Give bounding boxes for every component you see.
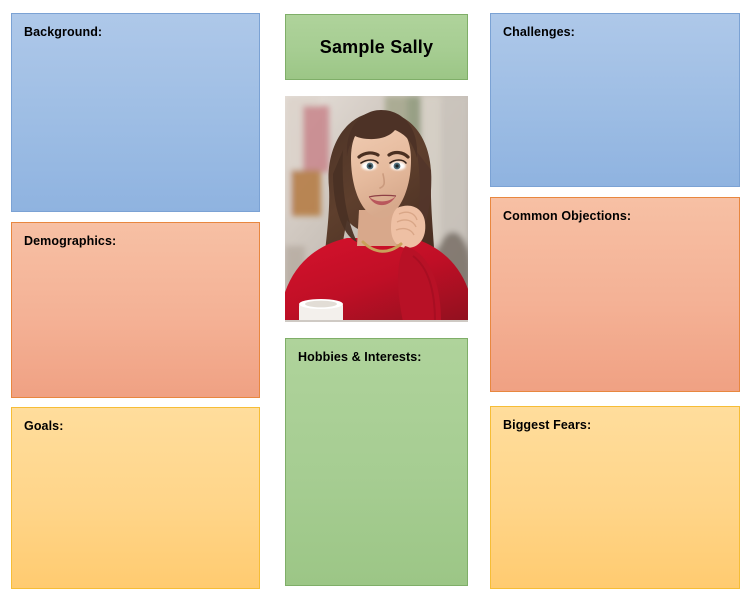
card-demographics-label: Demographics: [12, 223, 259, 249]
card-common-objections[interactable]: Common Objections: [490, 197, 740, 392]
card-background-label: Background: [12, 14, 259, 40]
card-goals[interactable]: Goals: [11, 407, 260, 589]
card-demographics[interactable]: Demographics: [11, 222, 260, 398]
card-hobbies-interests[interactable]: Hobbies & Interests: [285, 338, 468, 586]
card-common-objections-label: Common Objections: [491, 198, 739, 224]
card-goals-label: Goals: [12, 408, 259, 434]
persona-name-card[interactable]: Sample Sally [285, 14, 468, 80]
persona-name: Sample Sally [320, 37, 433, 58]
card-hobbies-interests-label: Hobbies & Interests: [286, 339, 467, 365]
card-challenges[interactable]: Challenges: [490, 13, 740, 187]
card-biggest-fears-label: Biggest Fears: [491, 407, 739, 433]
persona-photo [285, 96, 468, 322]
card-challenges-label: Challenges: [491, 14, 739, 40]
persona-photo-image [285, 96, 468, 322]
persona-canvas: Background: Demographics: Goals: Sample … [0, 0, 752, 601]
card-background[interactable]: Background: [11, 13, 260, 212]
card-biggest-fears[interactable]: Biggest Fears: [490, 406, 740, 589]
